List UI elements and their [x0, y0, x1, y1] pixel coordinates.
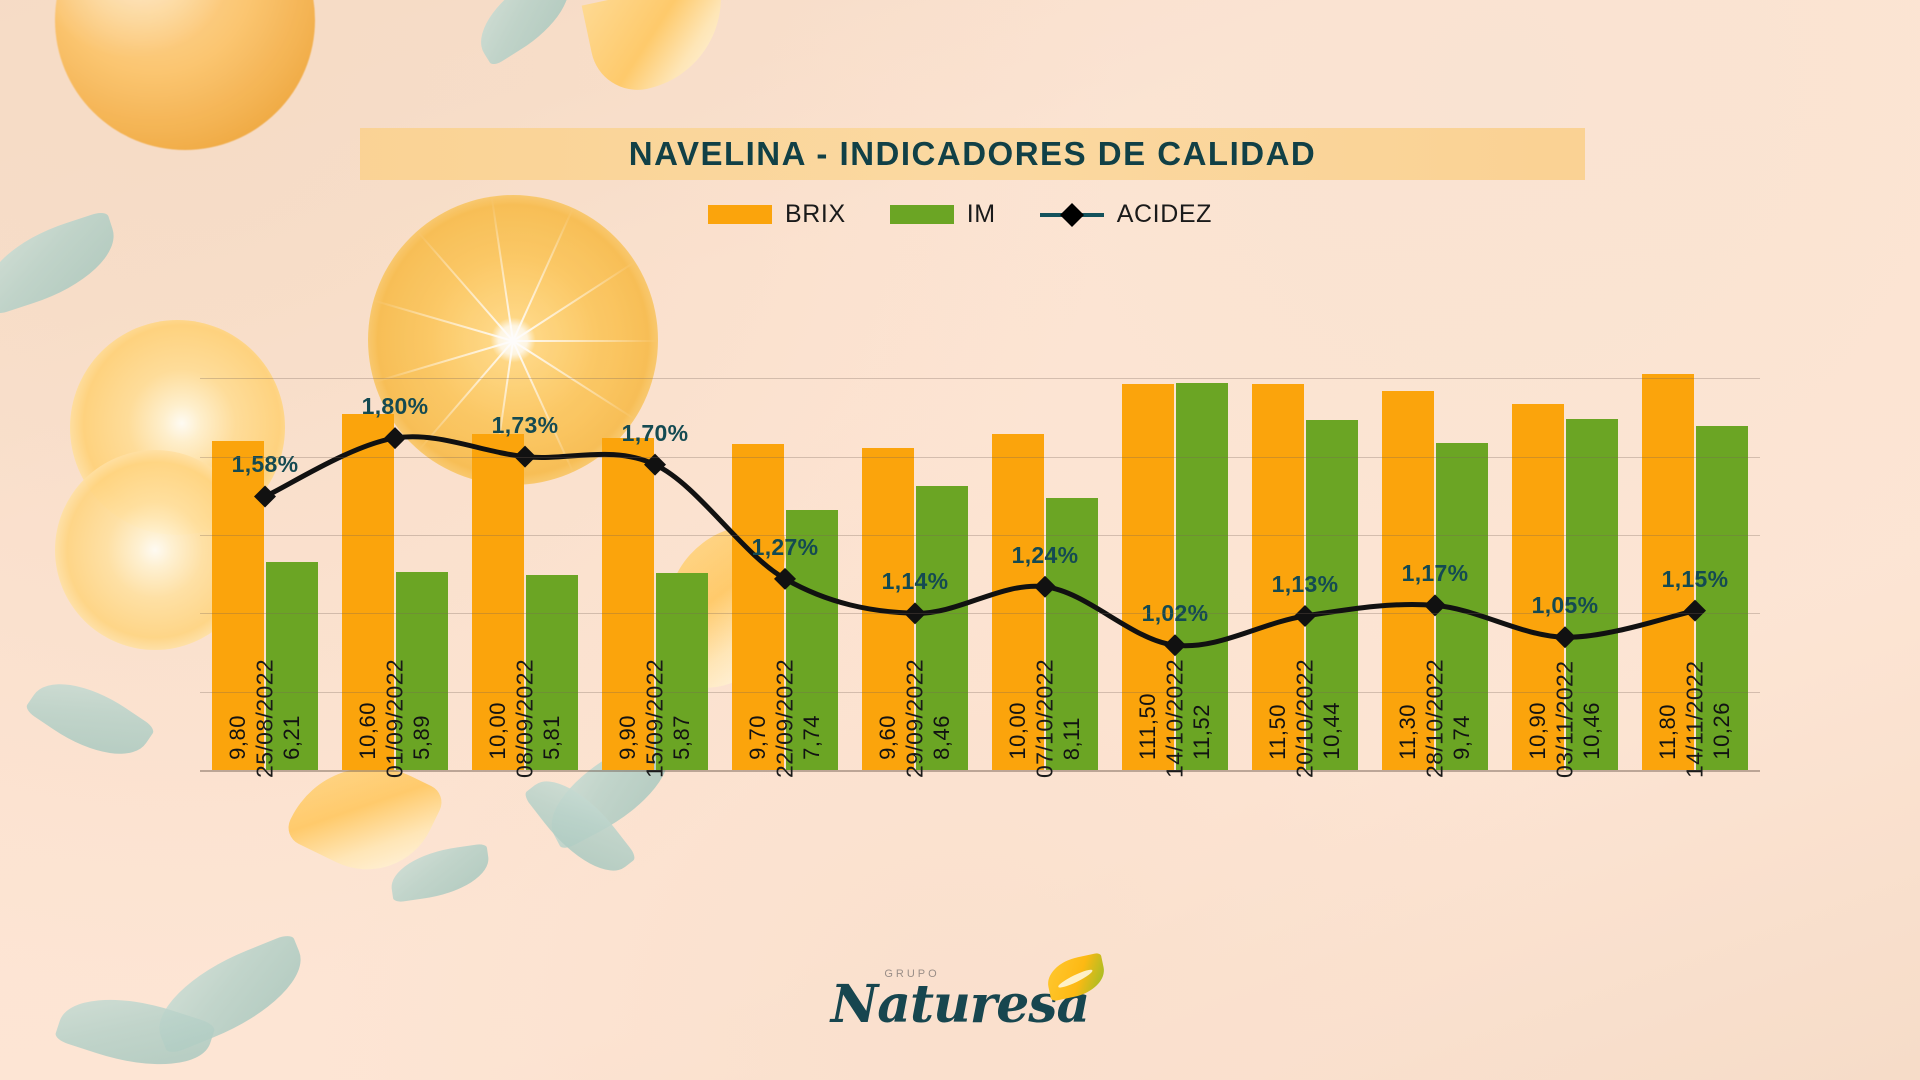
x-axis-tick-label: 01/09/2022 — [382, 659, 409, 778]
x-axis-tick-label: 29/09/2022 — [902, 659, 929, 778]
legend-label: BRIX — [785, 200, 846, 229]
legend-acidez[interactable]: ACIDEZ — [1040, 200, 1212, 229]
x-axis-tick-label: 03/11/2022 — [1552, 661, 1579, 778]
orange-fruit-image — [55, 0, 315, 150]
x-axis-tick-label: 28/10/2022 — [1422, 659, 1449, 778]
legend-color-swatch — [890, 205, 954, 224]
x-axis-line — [200, 770, 1760, 772]
legend-im[interactable]: IM — [890, 200, 996, 229]
acidez-diamond-marker[interactable] — [1684, 600, 1706, 622]
legend-label: ACIDEZ — [1117, 200, 1212, 229]
chart-poster: NAVELINA - INDICADORES DE CALIDAD BRIXIM… — [0, 0, 1920, 1080]
x-axis-tick-label: 07/10/2022 — [1032, 659, 1059, 778]
brand-logo: GRUPO Naturesa — [810, 968, 1110, 1035]
legend-color-swatch — [708, 205, 772, 224]
diamond-marker-icon — [1060, 202, 1084, 226]
x-axis-tick-label: 14/11/2022 — [1682, 661, 1709, 778]
acidez-diamond-marker[interactable] — [1294, 605, 1316, 627]
acidez-diamond-marker[interactable] — [1554, 626, 1576, 648]
eucalyptus-leaf-image — [54, 978, 216, 1080]
x-axis-tick-label: 20/10/2022 — [1292, 659, 1319, 778]
legend-line-diamond-icon — [1040, 205, 1104, 224]
acidez-value-label: 1,05% — [1532, 592, 1599, 619]
plot-area: 9,806,2110,605,8910,005,819,905,879,707,… — [200, 300, 1760, 770]
acidez-value-label: 1,15% — [1662, 566, 1729, 593]
acidez-value-label: 1,17% — [1402, 560, 1469, 587]
mango-leaf-icon — [1044, 952, 1109, 1001]
logo-wordmark-row: Naturesa — [831, 974, 1090, 1035]
acidez-value-label: 1,14% — [882, 568, 949, 595]
acidez-diamond-marker[interactable] — [1164, 634, 1186, 656]
gridline — [200, 457, 1760, 458]
gridline — [200, 535, 1760, 536]
x-axis-tick-label: 25/08/2022 — [252, 659, 279, 778]
acidez-value-label: 1,58% — [232, 451, 299, 478]
page-title: NAVELINA - INDICADORES DE CALIDAD — [360, 128, 1585, 180]
acidez-value-label: 1,73% — [492, 412, 559, 439]
acidez-value-label: 1,24% — [1012, 542, 1079, 569]
acidez-diamond-marker[interactable] — [1034, 576, 1056, 598]
eucalyptus-leaf-image — [24, 661, 156, 776]
gridline — [200, 692, 1760, 693]
acidez-value-label: 1,13% — [1272, 571, 1339, 598]
x-axis-labels: 25/08/202201/09/202208/09/202215/09/2022… — [200, 778, 1760, 958]
gridline — [200, 378, 1760, 379]
x-axis-tick-label: 08/09/2022 — [512, 659, 539, 778]
x-axis-tick-label: 22/09/2022 — [772, 659, 799, 778]
x-axis-tick-label: 15/09/2022 — [642, 659, 669, 778]
acidez-value-label: 1,70% — [622, 420, 689, 447]
acidez-line-path — [265, 437, 1695, 646]
acidez-diamond-marker[interactable] — [254, 485, 276, 507]
gridline — [200, 613, 1760, 614]
x-axis-tick-label: 14/10/2022 — [1162, 659, 1189, 778]
legend-label: IM — [967, 200, 996, 229]
acidez-value-label: 1,80% — [362, 393, 429, 420]
orange-wedge-top-image — [582, 0, 739, 99]
acidez-diamond-marker[interactable] — [384, 427, 406, 449]
legend-brix[interactable]: BRIX — [708, 200, 846, 229]
eucalyptus-leaf-image — [464, 0, 586, 67]
chart-legend: BRIXIMACIDEZ — [0, 200, 1920, 229]
acidez-value-label: 1,27% — [752, 534, 819, 561]
